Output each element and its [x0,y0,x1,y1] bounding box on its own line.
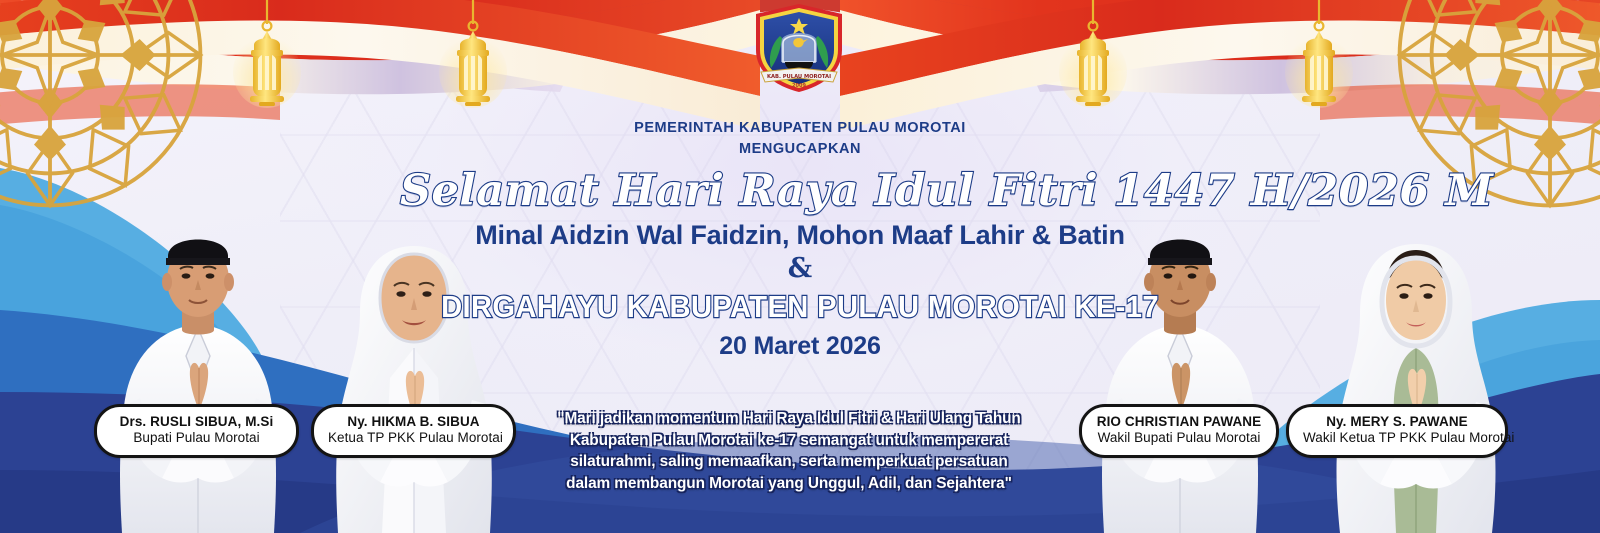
subtitle-greeting: Minal Aidzin Wal Faidzin, Mohon Maaf Lah… [400,218,1200,252]
emblem-year: 2009 [792,83,806,89]
person-photo-bupati [100,228,296,533]
name-plate-ketua-tp-pkk: Ny. HIKMA B. SIBUA Ketua TP PKK Pulau Mo… [311,404,516,458]
lantern-icon [1284,0,1354,108]
quote-text: "Mari jadikan momentum Hari Raya Idul Fi… [522,408,1056,494]
quote-line-1: "Mari jadikan momentum Hari Raya Idul Fi… [522,408,1056,430]
anniversary-date: 20 Maret 2026 [400,332,1200,361]
greeting-text-block: PEMERINTAH KABUPATEN PULAU MOROTAI MENGU… [400,118,1200,361]
mandala-ornament-icon [0,0,210,215]
name-plate-wakil-ketua-tp-pkk: Ny. MERY S. PAWANE Wakil Ketua TP PKK Pu… [1286,404,1508,458]
person-name: RIO CHRISTIAN PAWANE [1096,414,1262,430]
lantern-icon [232,0,302,108]
quote-line-2: Kabupaten Pulau Morotai ke-17 semangat u… [522,430,1056,452]
ampersand-separator: & [400,253,1200,285]
person-photo-wakil-ketua-tp-pkk [1318,228,1514,533]
person-name: Ny. MERY S. PAWANE [1303,414,1491,430]
person-name: Ny. HIKMA B. SIBUA [328,414,499,430]
quote-line-4: dalam membangun Morotai yang Unggul, Adi… [522,473,1056,495]
person-name: Drs. RUSLI SIBUA, M.Si [111,414,282,430]
person-title: Ketua TP PKK Pulau Morotai [328,430,499,446]
svg-text:KAB. PULAU MOROTAI: KAB. PULAU MOROTAI [767,74,831,80]
government-line-2: MENGUCAPKAN [400,139,1200,160]
main-script-title: Selamat Hari Raya Idul Fitri 1447 H/2026… [400,166,1200,216]
person-title: Wakil Ketua TP PKK Pulau Morotai [1303,430,1491,446]
person-title: Bupati Pulau Morotai [111,430,282,446]
government-line-1: PEMERINTAH KABUPATEN PULAU MOROTAI [400,118,1200,139]
regency-coat-of-arms: KAB. PULAU MOROTAI 2009 [747,2,852,94]
name-plate-wakil-bupati: RIO CHRISTIAN PAWANE Wakil Bupati Pulau … [1079,404,1279,458]
lantern-icon [438,0,508,108]
lantern-icon [1058,0,1128,108]
person-title: Wakil Bupati Pulau Morotai [1096,430,1262,446]
quote-line-3: silaturahmi, saling memaafkan, serta mem… [522,451,1056,473]
name-plate-bupati: Drs. RUSLI SIBUA, M.Si Bupati Pulau Moro… [94,404,299,458]
idul-fitri-banner: KAB. PULAU MOROTAI 2009 PEMERINTAH KABUP… [0,0,1600,533]
dirgahayu-headline: DIRGAHAYU KABUPATEN PULAU MOROTAI KE-17 [424,288,1176,326]
